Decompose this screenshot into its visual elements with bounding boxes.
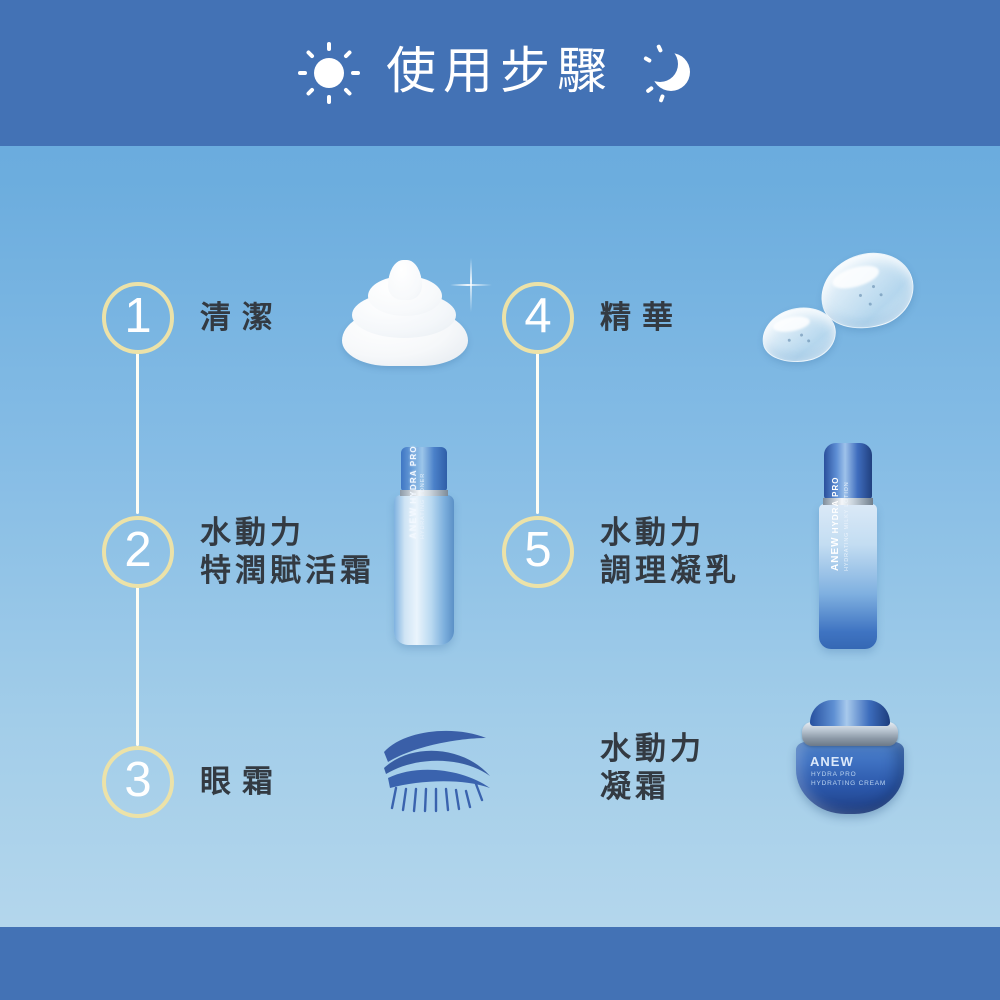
cream-jar-image: ANEW HYDRA PRO HYDRATING CREAM <box>788 700 912 818</box>
footer-band <box>0 927 1000 1000</box>
lotion-brand-text: ANEW HYDRA PRO <box>830 451 841 571</box>
page-title: 使用步驟 <box>386 46 614 100</box>
step-label-line2: 特潤賦活霜 <box>200 552 375 590</box>
sparkle-icon <box>450 258 492 312</box>
connector-1-2 <box>136 352 139 514</box>
step-label-line1: 精華 <box>600 299 684 337</box>
step-number: 1 <box>124 292 151 341</box>
step-number-circle: 1 <box>102 282 174 354</box>
step-label-line1: 水動力 <box>200 514 375 552</box>
step-label-line1: 清潔 <box>200 299 284 337</box>
lotion-type-text: HYDRATING MILKY LOTION <box>844 456 850 571</box>
sun-icon <box>298 42 360 104</box>
connector-2-3 <box>136 586 139 746</box>
step-3[interactable]: 3 眼霜 <box>102 746 284 818</box>
step-number: 3 <box>124 756 151 805</box>
header: 使用步驟 <box>0 0 1000 146</box>
step-1[interactable]: 1 清潔 <box>102 282 284 354</box>
jar-type-text: HYDRA PRO HYDRATING CREAM <box>811 770 886 788</box>
step-4[interactable]: 4 精華 <box>502 282 684 354</box>
step-label-line1: 水動力 <box>600 514 740 552</box>
step-number-circle: 4 <box>502 282 574 354</box>
step-label-line1: 眼霜 <box>200 763 284 801</box>
connector-4-5 <box>536 352 539 514</box>
step-5[interactable]: 5 水動力 調理凝乳 <box>502 514 740 590</box>
step-label-line2: 凝霜 <box>600 768 705 806</box>
step-final-cream[interactable]: 水動力 凝霜 <box>600 730 705 806</box>
foam-swirl-icon <box>340 258 480 368</box>
step-label-group: 水動力 凝霜 <box>600 730 705 806</box>
step-label-group: 眼霜 <box>200 763 284 801</box>
step-label-line1: 水動力 <box>600 730 705 768</box>
step-label-group: 清潔 <box>200 299 284 337</box>
step-number: 4 <box>524 292 551 341</box>
step-label-group: 水動力 調理凝乳 <box>600 514 740 590</box>
step-number: 5 <box>524 526 551 575</box>
eye-illustration-icon <box>378 722 508 814</box>
jar-brand-text: ANEW <box>810 754 854 769</box>
toner-bottle-image: ANEW HYDRA PRO HYDRATING TONER <box>382 447 466 645</box>
step-number-circle: 3 <box>102 746 174 818</box>
milky-lotion-bottle-image: ANEW HYDRA PRO HYDRATING MILKY LOTION <box>806 443 890 649</box>
step-label-group: 水動力 特潤賦活霜 <box>200 514 375 590</box>
step-label-group: 精華 <box>600 299 684 337</box>
step-number-circle: 2 <box>102 516 174 588</box>
step-number-circle: 5 <box>502 516 574 588</box>
gel-droplets-image <box>762 252 922 372</box>
crescent-moon-icon <box>640 42 702 104</box>
step-2[interactable]: 2 水動力 特潤賦活霜 <box>102 514 375 590</box>
toner-brand-text: ANEW HYDRA PRO <box>408 409 418 539</box>
step-number: 2 <box>124 526 151 575</box>
step-label-line2: 調理凝乳 <box>600 552 740 590</box>
usage-steps-poster: 使用步驟 1 清潔 2 水 <box>0 0 1000 1000</box>
toner-type-text: HYDRATING TONER <box>420 419 426 539</box>
